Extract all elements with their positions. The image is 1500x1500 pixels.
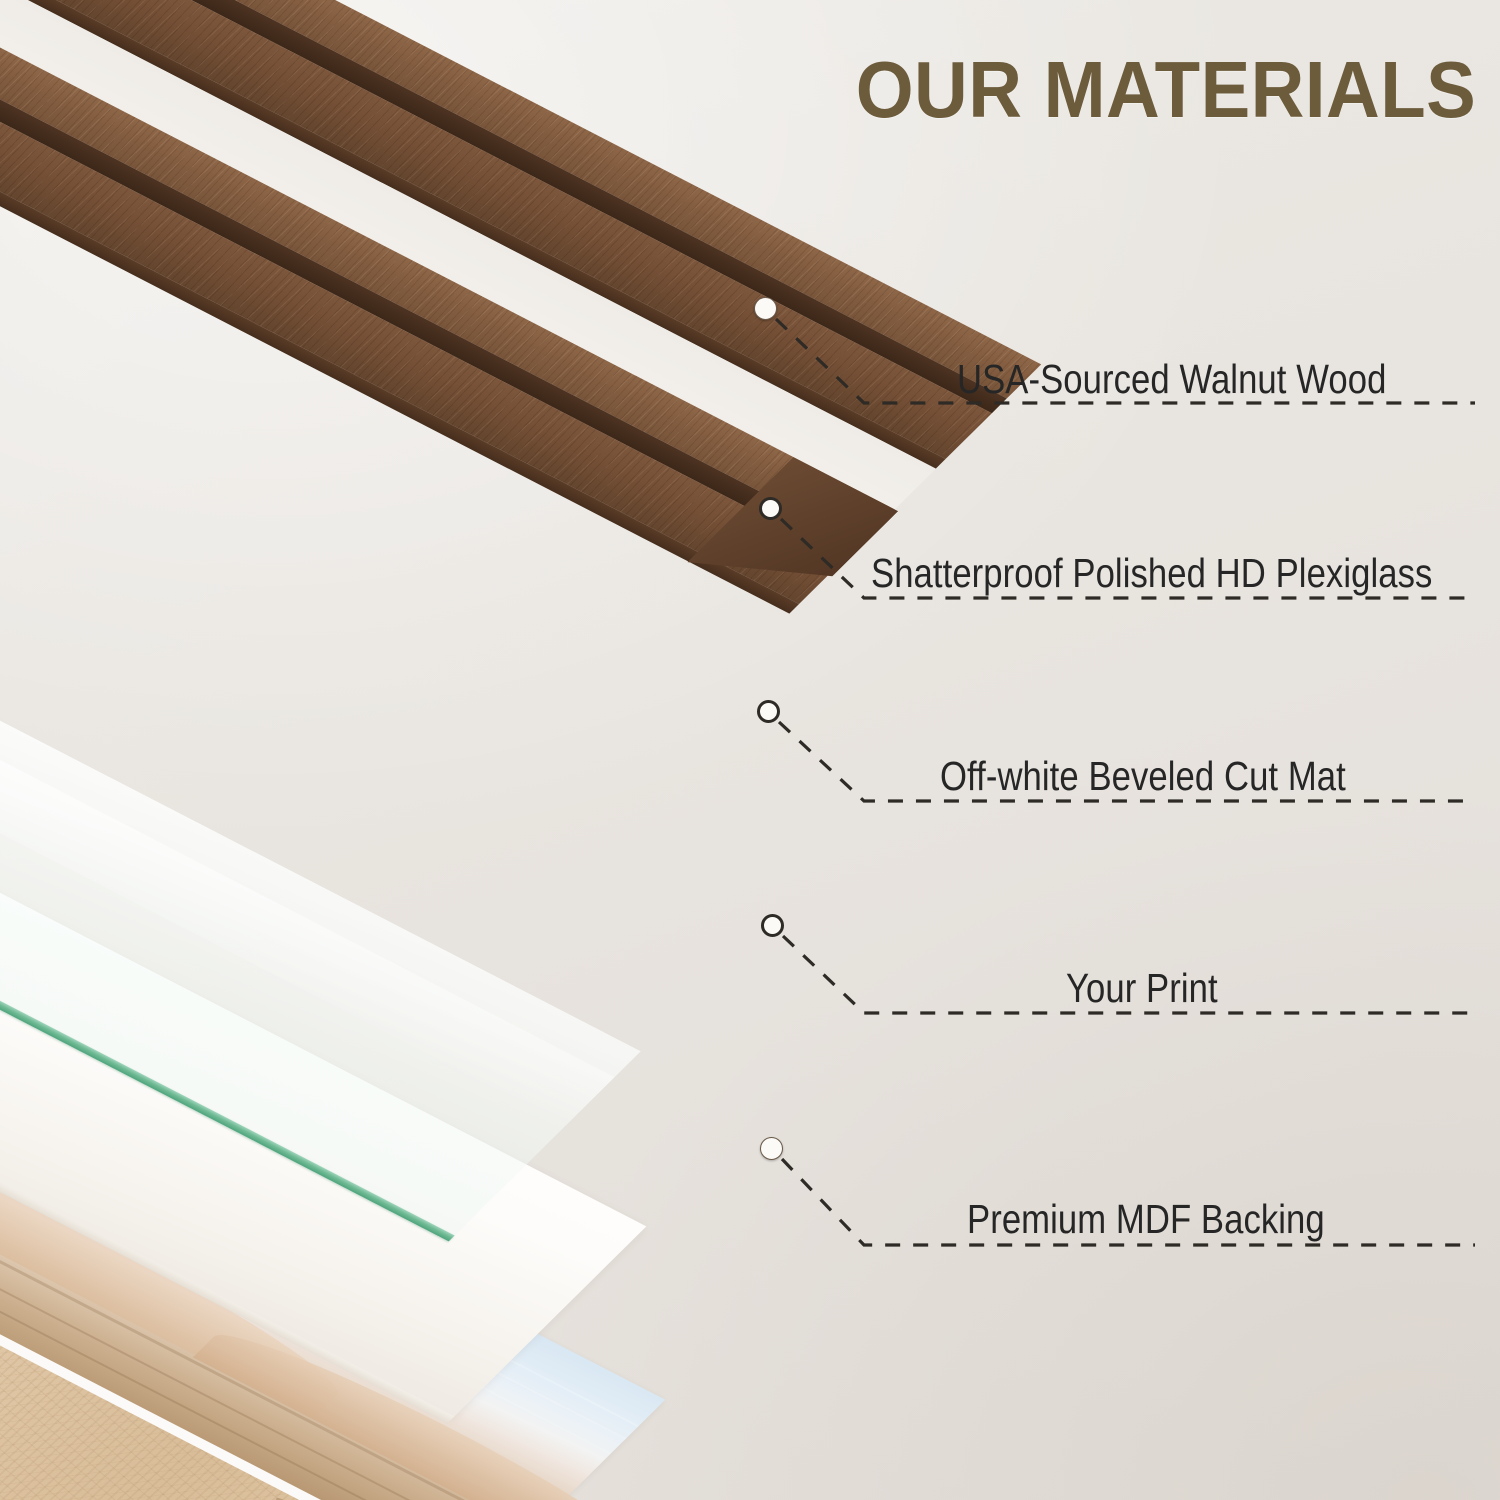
materials-infographic: USA-Sourced Walnut Wood Shatterproof Pol… — [0, 0, 1500, 1500]
page-title: OUR MATERIALS — [856, 44, 1476, 136]
exploded-layer-stack — [0, 0, 1500, 1500]
